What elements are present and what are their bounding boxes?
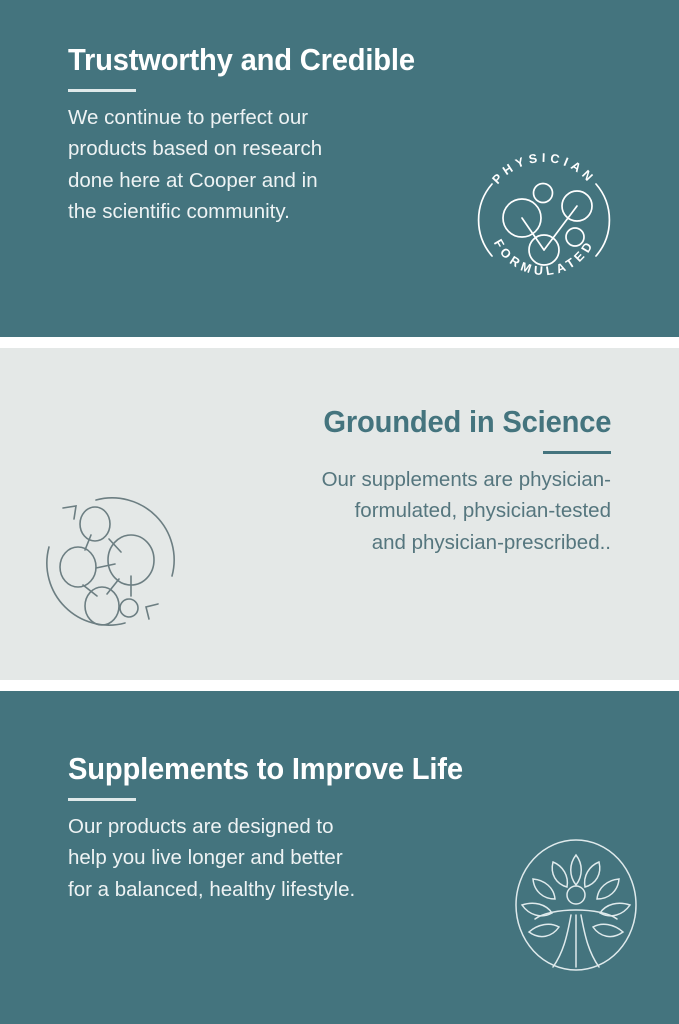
section-grounded-in-science: Grounded in Science Our supplements are … [0,348,679,680]
trustworthy-divider [68,89,136,92]
science-body-line-2: formulated, physician-tested [355,499,611,522]
molecule-network-cycle-icon [33,484,188,639]
supplements-body-line-1: Our products are designed to [68,815,334,838]
supplements-body-line-2: help you live longer and better [68,846,343,869]
section-divider-gap-1 [0,337,679,348]
supplements-heading: Supplements to Improve Life [68,753,463,786]
science-body: Our supplements are physician- formulate… [305,464,611,559]
supplements-text-block: Supplements to Improve Life Our products… [68,753,488,905]
section-supplements-to-improve-life: Supplements to Improve Life Our products… [0,691,679,1024]
science-heading: Grounded in Science [323,406,611,439]
science-body-line-3: and physician-prescribed.. [372,531,611,554]
tree-person-leaves-icon [509,833,644,978]
trustworthy-heading: Trustworthy and Credible [68,44,415,77]
supplements-body-line-3: for a balanced, healthy lifestyle. [68,878,355,901]
trustworthy-body-line-2: products based on research [68,137,322,160]
science-divider [543,451,611,454]
trustworthy-body: We continue to perfect our products base… [68,102,437,228]
supplements-divider [68,798,136,801]
science-text-block: Grounded in Science Our supplements are … [305,406,611,558]
trustworthy-body-line-1: We continue to perfect our [68,106,308,129]
marketing-graphic-page: Trustworthy and Credible We continue to … [0,0,679,1024]
physician-formulated-badge-icon: PHYSICIAN FORMULATED [464,140,624,300]
science-body-line-1: Our supplements are physician- [322,468,611,491]
trustworthy-body-line-4: the scientific community. [68,200,290,223]
badge-top-text: PHYSICIAN [490,151,599,187]
trustworthy-body-line-3: done here at Cooper and in [68,169,318,192]
supplements-body: Our products are designed to help you li… [68,811,488,906]
section-trustworthy-and-credible: Trustworthy and Credible We continue to … [0,0,679,337]
trustworthy-text-block: Trustworthy and Credible We continue to … [68,44,437,228]
section-divider-gap-2 [0,680,679,691]
